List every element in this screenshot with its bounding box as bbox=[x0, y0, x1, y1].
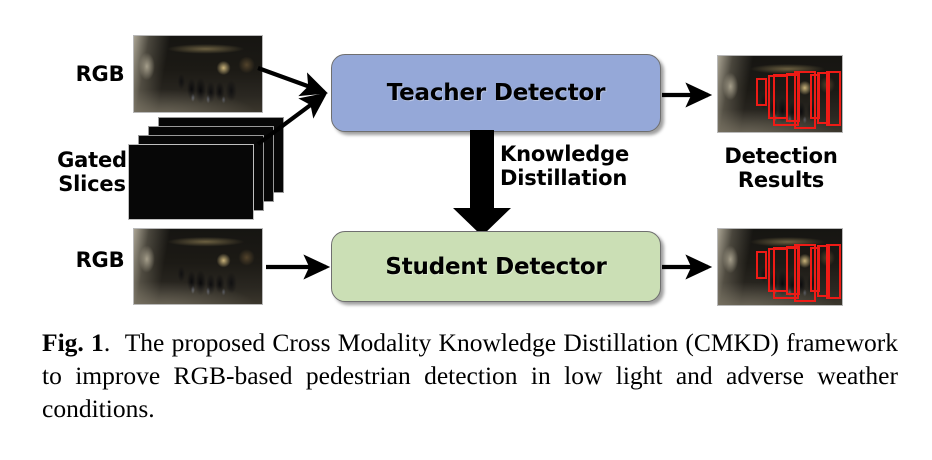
student-detector-box[interactable]: Student Detector bbox=[331, 231, 661, 302]
arrow-teacher-to-detection-results bbox=[662, 84, 720, 106]
detection-results-thumbnail-bottom bbox=[717, 228, 843, 306]
teacher-detector-box[interactable]: Teacher Detector bbox=[331, 54, 661, 132]
student-detector-label: Student Detector bbox=[385, 254, 606, 280]
figure-number: Fig. 1 bbox=[42, 328, 104, 357]
arrow-gated-to-teacher bbox=[258, 92, 338, 154]
teacher-detector-label: Teacher Detector bbox=[387, 80, 606, 106]
rgb-input-thumbnail-top bbox=[133, 35, 263, 113]
rgb-input-thumbnail-bottom bbox=[133, 228, 263, 305]
knowledge-distillation-label: Knowledge Distillation bbox=[500, 142, 700, 190]
detection-results-label: Detection Results bbox=[718, 144, 844, 192]
detection-bbox bbox=[826, 244, 841, 299]
detection-bbox bbox=[826, 71, 841, 126]
figure-caption: Fig. 1. The proposed Cross Modality Know… bbox=[42, 326, 898, 425]
arrow-rgb-bottom-to-student bbox=[266, 256, 338, 278]
night-street-rgb-image bbox=[134, 229, 262, 304]
figure-number-separator: . bbox=[104, 328, 110, 357]
input-label-rgb-top: RGB bbox=[58, 62, 142, 86]
input-label-rgb-bottom: RGB bbox=[58, 248, 142, 272]
detection-results-thumbnail-top bbox=[717, 55, 843, 133]
input-label-gated-slices: Gated Slices bbox=[44, 148, 140, 196]
detection-bbox bbox=[756, 78, 767, 106]
night-street-rgb-image bbox=[134, 36, 262, 112]
arrow-student-to-detection-results bbox=[662, 256, 720, 278]
detection-bbox bbox=[756, 251, 767, 279]
gated-slice-frame-1 bbox=[128, 144, 254, 220]
figure-caption-text: The proposed Cross Modality Knowledge Di… bbox=[42, 328, 898, 423]
figure-diagram: RGB Gated Slices RGB bbox=[0, 0, 932, 330]
